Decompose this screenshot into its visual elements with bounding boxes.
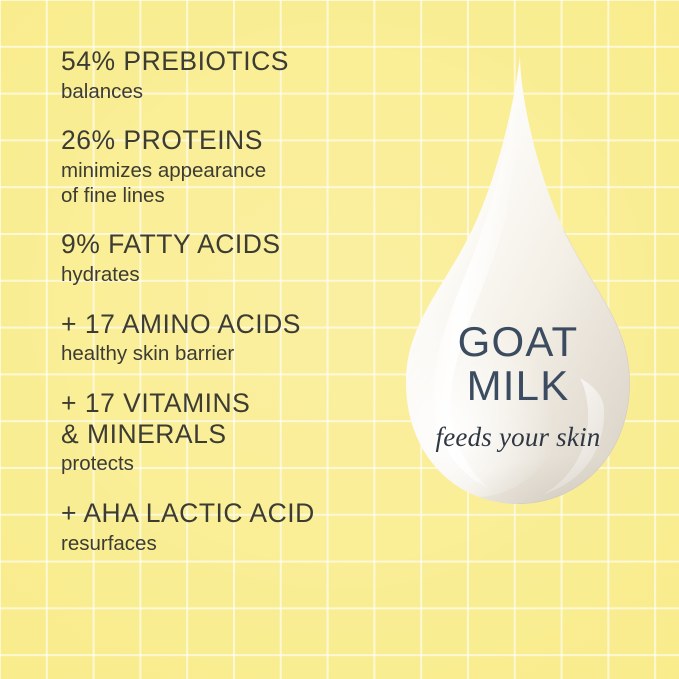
ingredient-benefit: balances: [61, 80, 401, 105]
ingredient-list: 54% PREBIOTICS balances 26% PROTEINS min…: [61, 46, 401, 556]
ingredient-heading: 9% FATTY ACIDS: [61, 229, 401, 260]
ingredient-heading: + 17 VITAMINS & MINERALS: [61, 388, 401, 449]
ingredient-benefit: resurfaces: [61, 532, 401, 557]
ingredient-benefit: minimizes appearance of fine lines: [61, 159, 401, 208]
ingredient-item-proteins: 26% PROTEINS minimizes appearance of fin…: [61, 125, 401, 208]
ingredient-benefit: protects: [61, 452, 401, 477]
ingredient-heading: 26% PROTEINS: [61, 125, 401, 156]
ingredient-heading: + AHA LACTIC ACID: [61, 498, 401, 529]
ingredient-item-fatty-acids: 9% FATTY ACIDS hydrates: [61, 229, 401, 287]
ingredient-heading: 54% PREBIOTICS: [61, 46, 401, 77]
ingredient-item-vitamins-minerals: + 17 VITAMINS & MINERALS protects: [61, 388, 401, 477]
ingredient-benefit: healthy skin barrier: [61, 342, 401, 367]
milk-droplet-illustration: [368, 52, 668, 557]
ingredient-item-amino-acids: + 17 AMINO ACIDS healthy skin barrier: [61, 309, 401, 367]
ingredient-heading: + 17 AMINO ACIDS: [61, 309, 401, 340]
ingredient-benefit: hydrates: [61, 263, 401, 288]
infographic-canvas: 54% PREBIOTICS balances 26% PROTEINS min…: [0, 0, 679, 679]
ingredient-item-aha-lactic-acid: + AHA LACTIC ACID resurfaces: [61, 498, 401, 556]
ingredient-item-prebiotics: 54% PREBIOTICS balances: [61, 46, 401, 104]
